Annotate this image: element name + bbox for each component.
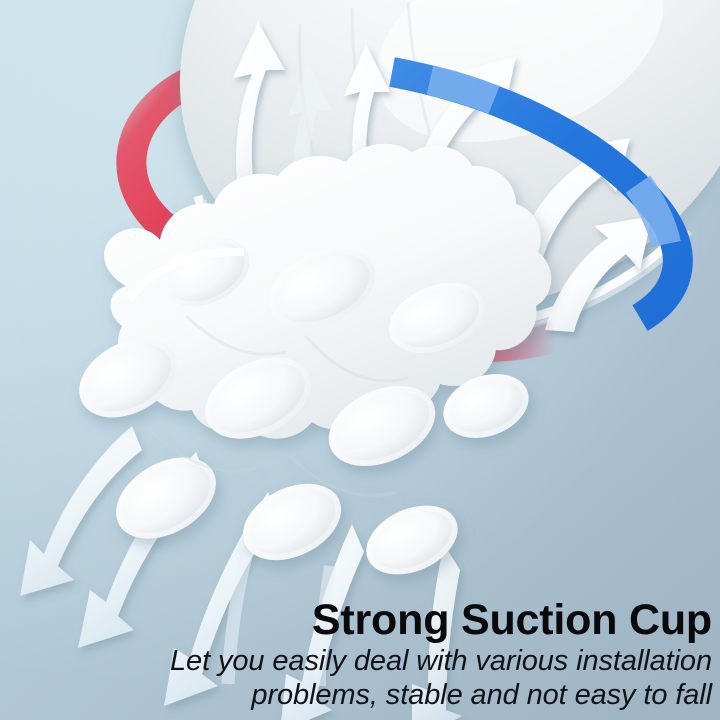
product-illustration [0,0,720,720]
cup-row-bottom [102,441,469,588]
airflow-wisps [228,556,330,686]
product-feature-image: Strong Suction Cup Let you easily deal w… [0,0,720,720]
